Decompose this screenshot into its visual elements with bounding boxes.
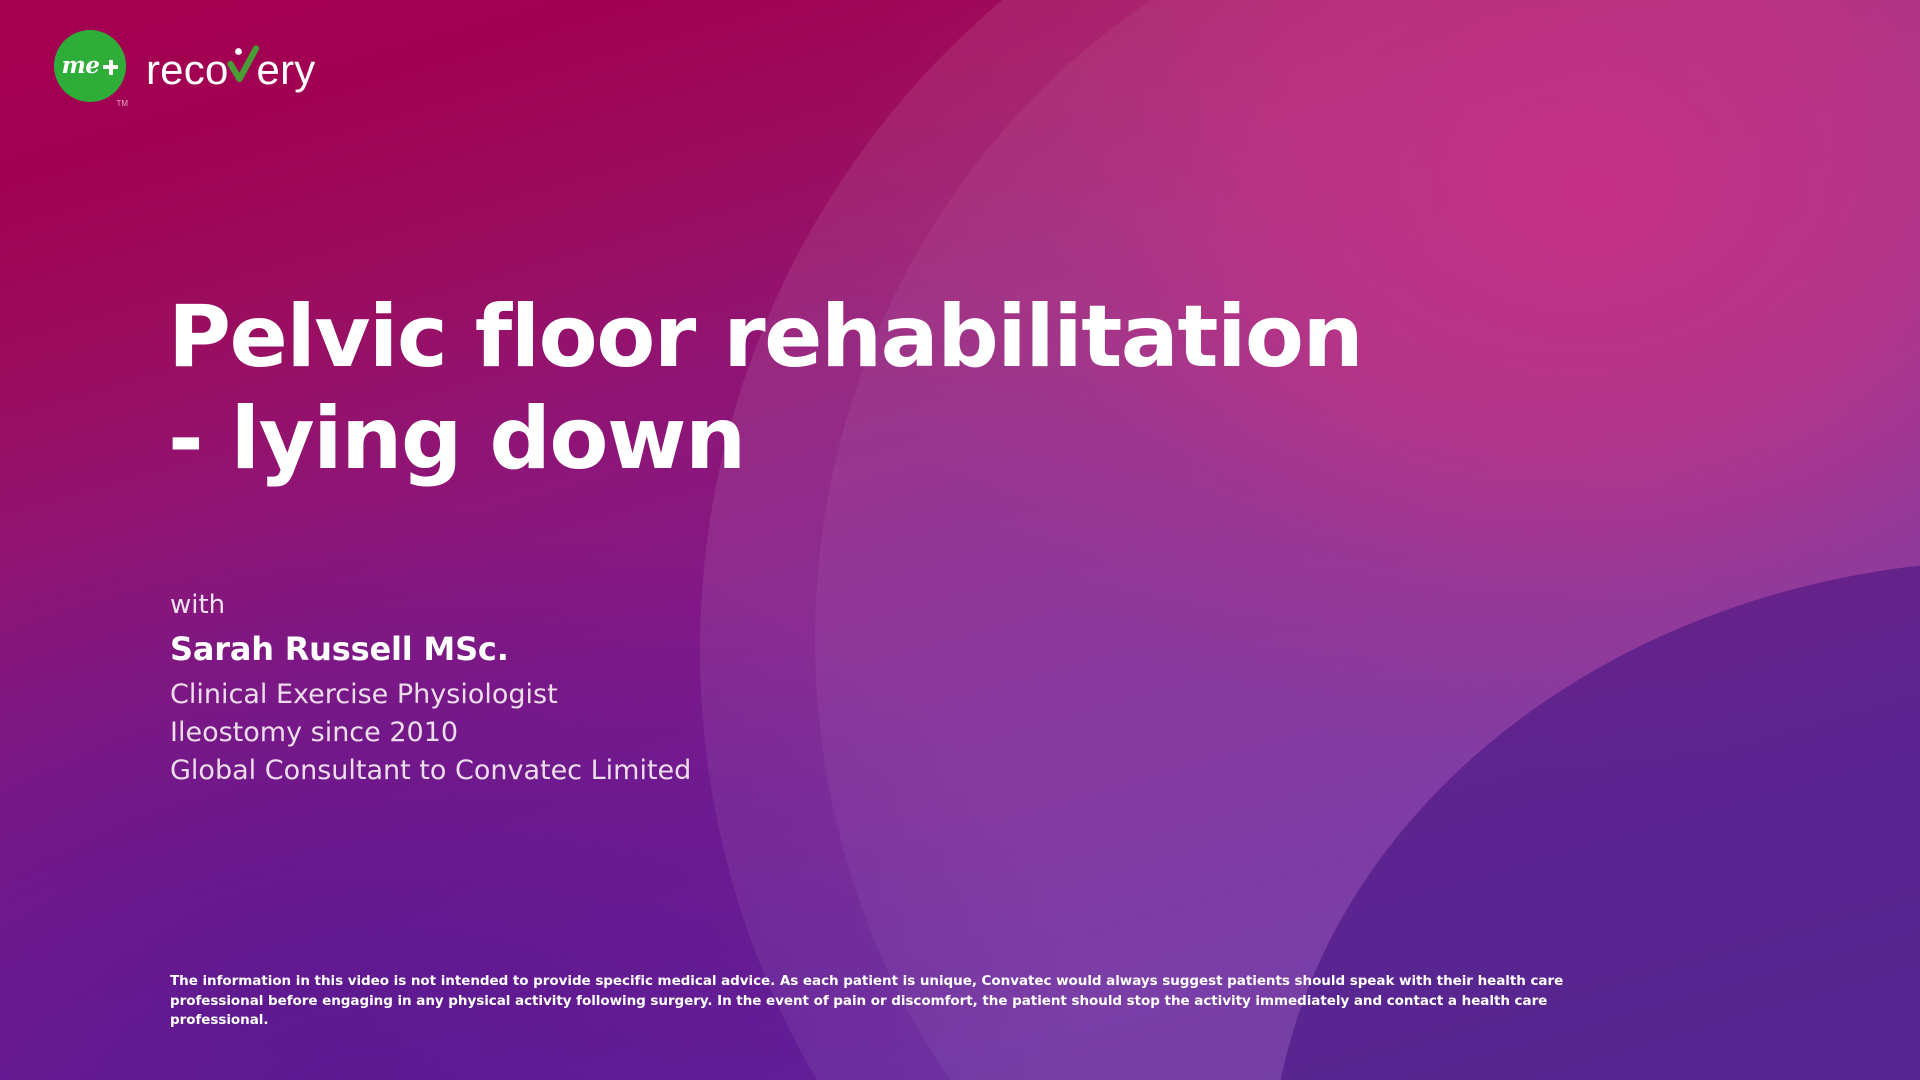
me-plus-badge-label: me <box>62 54 100 77</box>
title-line-1: Pelvic floor rehabilitation <box>168 294 1362 380</box>
me-plus-badge-icon: me TM <box>54 30 126 102</box>
presenter-block: with Sarah Russell MSc. Clinical Exercis… <box>170 589 691 790</box>
presenter-role-2: Ileostomy since 2010 <box>170 714 691 752</box>
wordmark-part-two: ery <box>257 49 316 91</box>
slide-title: Pelvic floor rehabilitation - lying down <box>168 294 1362 482</box>
title-line-2: - lying down <box>168 396 1362 482</box>
medical-disclaimer: The information in this video is not int… <box>170 972 1590 1031</box>
presenter-role-3: Global Consultant to Convatec Limited <box>170 752 691 790</box>
presenter-role-1: Clinical Exercise Physiologist <box>170 676 691 714</box>
check-mark-icon <box>228 42 258 84</box>
trademark-symbol: TM <box>116 99 128 108</box>
background-curve-inner <box>815 0 1920 1080</box>
wordmark-part-one: reco <box>146 49 229 91</box>
plus-icon <box>103 60 118 75</box>
presenter-with-label: with <box>170 589 691 622</box>
slide-canvas: me TM reco ery Pelvic floor rehabilitati… <box>0 0 1920 1080</box>
recovery-wordmark: reco ery <box>146 42 315 91</box>
brand-logo: me TM reco ery <box>54 30 315 102</box>
background-curve-outer <box>700 0 1920 1080</box>
presenter-name: Sarah Russell MSc. <box>170 629 691 669</box>
